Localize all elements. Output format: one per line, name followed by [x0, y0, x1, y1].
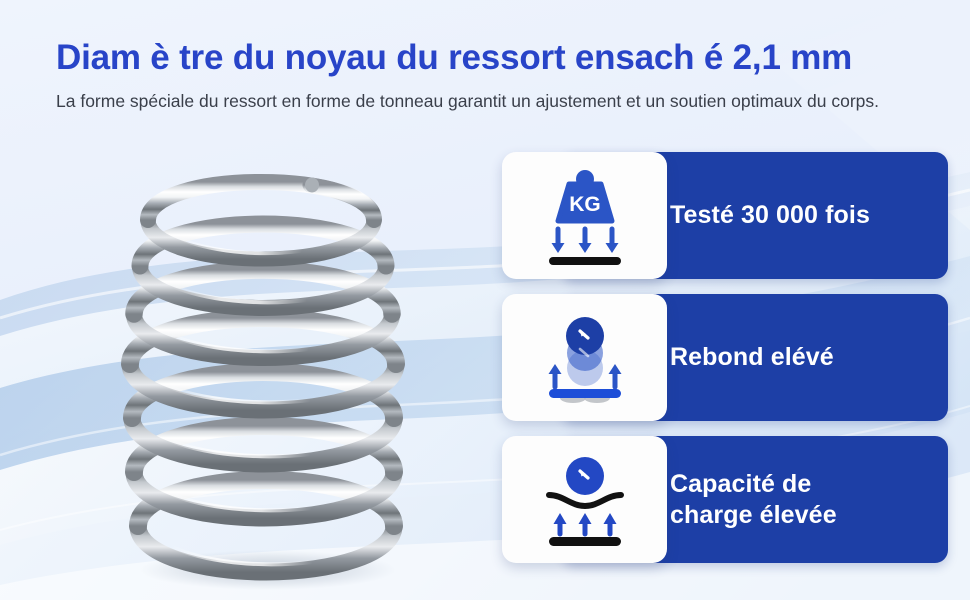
product-feature-banner: Diam è tre du noyau du ressort ensach é …: [0, 0, 970, 600]
feature-card-tested[interactable]: Testé 30 000 fois KG: [502, 152, 948, 279]
feature-card-rebound[interactable]: Rebond elévé: [502, 294, 948, 421]
feature-card-load-capacity[interactable]: Capacité de charge élevée: [502, 436, 948, 563]
feature-card-label: Rebond elévé: [670, 342, 834, 373]
kg-weight-compression-icon: KG: [533, 164, 637, 268]
headline-block: Diam è tre du noyau du ressort ensach é …: [56, 38, 936, 115]
feature-card-label: Testé 30 000 fois: [670, 200, 870, 231]
feature-card-list: Testé 30 000 fois KG: [502, 152, 948, 563]
feature-icon-container: KG: [502, 152, 667, 279]
feature-card-label: Capacité de charge élevée: [670, 469, 837, 530]
spring-image: [98, 150, 428, 590]
load-capacity-ball-curve-icon: [533, 448, 637, 552]
page-title: Diam è tre du noyau du ressort ensach é …: [56, 38, 936, 78]
page-subtitle: La forme spéciale du ressort en forme de…: [56, 89, 886, 114]
feature-icon-container: [502, 294, 667, 421]
bouncing-ball-rebound-icon: [533, 306, 637, 410]
feature-icon-container: [502, 436, 667, 563]
barrel-spring-illustration: [98, 150, 428, 590]
kg-icon-text: KG: [569, 193, 601, 216]
